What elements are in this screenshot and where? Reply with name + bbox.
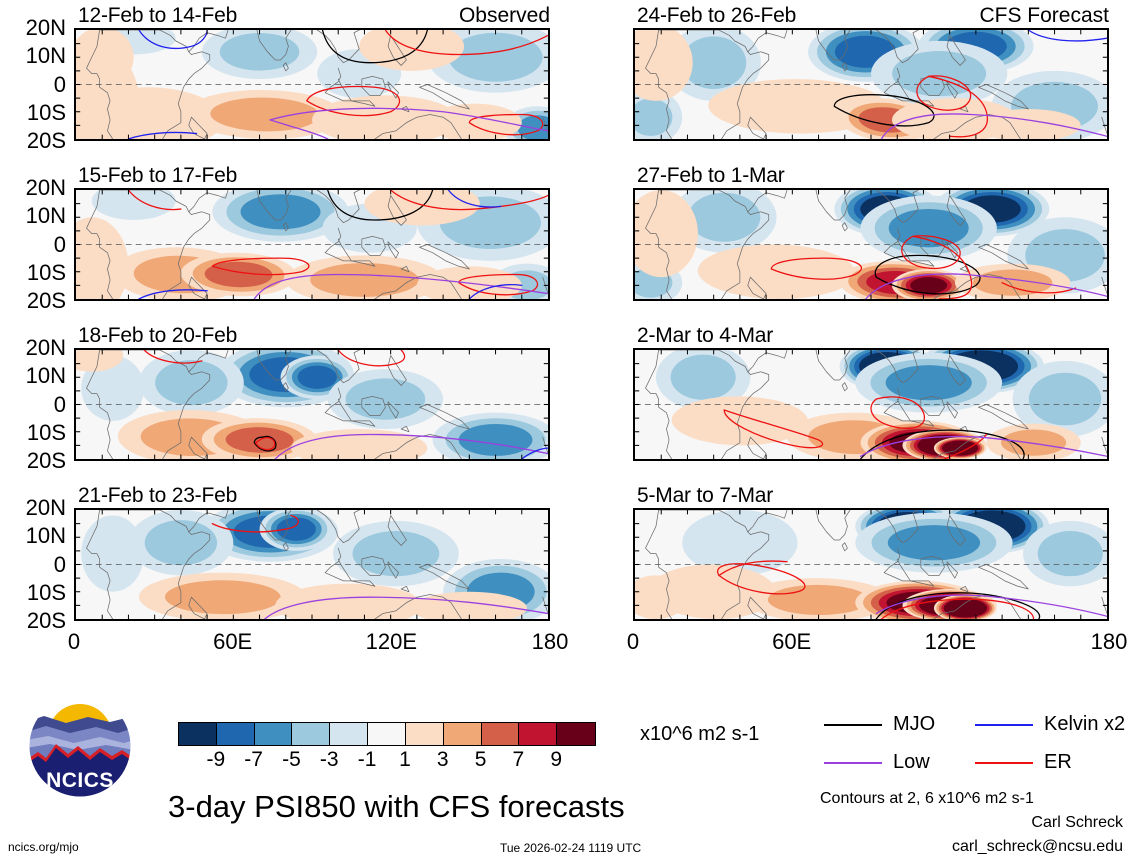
xtick-left-3: 180 — [510, 629, 590, 655]
map-l4[interactable] — [74, 508, 550, 621]
ytick-l1-3: 10S — [0, 100, 66, 126]
author-email: carl_schreck@ncsu.edu — [952, 838, 1123, 856]
ytick-l2-3: 10S — [0, 260, 66, 286]
colorbar-cell-7 — [444, 723, 482, 745]
map-l3[interactable] — [74, 348, 550, 461]
page-title: 3-day PSI850 with CFS forecasts — [168, 789, 625, 825]
xtick-right-0: 0 — [593, 629, 673, 655]
mjo-line-swatch — [824, 724, 882, 726]
ytick-l1-1: 10N — [0, 43, 66, 69]
xtick-right-3: 180 — [1069, 629, 1135, 655]
er-line-swatch — [975, 762, 1033, 764]
ytick-l4-3: 10S — [0, 580, 66, 606]
colorbar-cell-3 — [292, 723, 330, 745]
axis-ticks — [635, 30, 1107, 139]
legend-item-kelvin: Kelvin x2 — [975, 713, 1125, 736]
colorbar-cell-9 — [519, 723, 557, 745]
colorbar-tick-2: -5 — [282, 748, 301, 772]
contour-note: Contours at 2, 6 x10^6 m2 s-1 — [820, 790, 1034, 808]
ytick-l3-4: 20S — [0, 448, 66, 474]
colorbar-cell-8 — [482, 723, 520, 745]
colorbar-cell-10 — [557, 723, 595, 745]
axis-ticks — [635, 190, 1107, 299]
colorbar-cell-1 — [217, 723, 255, 745]
map-r1[interactable] — [633, 28, 1109, 141]
legend-item-low: Low — [824, 751, 930, 774]
map-r2[interactable] — [633, 188, 1109, 301]
colorbar-tick-7: 5 — [475, 748, 487, 772]
ytick-l4-2: 0 — [0, 552, 66, 578]
ytick-l3-2: 0 — [0, 392, 66, 418]
panel-corner-l1: Observed — [74, 4, 550, 28]
render-timestamp: Tue 2026-02-24 1119 UTC — [500, 841, 641, 855]
panel-title-l4: 21-Feb to 23-Feb — [78, 484, 237, 508]
xtick-right-2: 120E — [910, 629, 990, 655]
colorbar-tick-6: 3 — [437, 748, 449, 772]
map-r4[interactable] — [633, 508, 1109, 621]
colorbar-cell-0 — [179, 723, 217, 745]
legend-label-er: ER — [1044, 751, 1072, 774]
map-l1[interactable] — [74, 28, 550, 141]
colorbar-cell-5 — [368, 723, 406, 745]
xtick-left-2: 120E — [351, 629, 431, 655]
ncics-logo: NCICS — [26, 692, 134, 800]
panel-corner-r1: CFS Forecast — [633, 4, 1109, 28]
author-name: Carl Schreck — [1031, 814, 1123, 832]
ytick-l2-0: 20N — [0, 175, 66, 201]
ytick-l1-4: 20S — [0, 128, 66, 154]
colorbar-units-label: x10^6 m2 s-1 — [640, 723, 759, 746]
legend-label-low: Low — [893, 751, 930, 774]
ytick-l2-2: 0 — [0, 232, 66, 258]
ytick-l2-1: 10N — [0, 203, 66, 229]
kelvin-line-swatch — [975, 724, 1033, 726]
colorbar-cell-4 — [330, 723, 368, 745]
panel-title-r4: 5-Mar to 7-Mar — [637, 484, 773, 508]
ytick-l2-4: 20S — [0, 288, 66, 314]
axis-ticks — [76, 350, 548, 459]
axis-ticks — [635, 350, 1107, 459]
panel-title-l2: 15-Feb to 17-Feb — [78, 164, 237, 188]
ytick-l3-0: 20N — [0, 335, 66, 361]
ncics-logo-svg: NCICS — [26, 692, 134, 800]
low-line-swatch — [824, 762, 882, 764]
colorbar-tick-8: 7 — [513, 748, 525, 772]
legend-item-mjo: MJO — [824, 713, 935, 736]
colorbar-tick-9: 9 — [550, 748, 562, 772]
ytick-l1-2: 0 — [0, 72, 66, 98]
site-url[interactable]: ncics.org/mjo — [8, 840, 79, 854]
legend-label-kelvin: Kelvin x2 — [1044, 713, 1125, 736]
xtick-left-0: 0 — [34, 629, 114, 655]
ytick-l3-3: 10S — [0, 420, 66, 446]
xtick-right-1: 60E — [752, 629, 832, 655]
colorbar-cell-2 — [255, 723, 293, 745]
ytick-l4-1: 10N — [0, 523, 66, 549]
panel-title-r3: 2-Mar to 4-Mar — [637, 324, 773, 348]
ytick-l1-0: 20N — [0, 15, 66, 41]
panel-title-r2: 27-Feb to 1-Mar — [637, 164, 785, 188]
legend-label-mjo: MJO — [893, 713, 935, 736]
colorbar-tick-1: -7 — [244, 748, 263, 772]
xtick-left-1: 60E — [193, 629, 273, 655]
panel-title-l3: 18-Feb to 20-Feb — [78, 324, 237, 348]
colorbar-tick-0: -9 — [206, 748, 225, 772]
ytick-l3-1: 10N — [0, 363, 66, 389]
ytick-l4-0: 20N — [0, 495, 66, 521]
svg-text:NCICS: NCICS — [46, 769, 114, 792]
colorbar-tick-3: -3 — [320, 748, 339, 772]
colorbar-tick-4: -1 — [358, 748, 377, 772]
map-r3[interactable] — [633, 348, 1109, 461]
axis-ticks — [76, 30, 548, 139]
axis-ticks — [635, 510, 1107, 619]
colorbar-cell-6 — [406, 723, 444, 745]
axis-ticks — [76, 510, 548, 619]
map-l2[interactable] — [74, 188, 550, 301]
colorbar — [178, 722, 596, 746]
axis-ticks — [76, 190, 548, 299]
legend-item-er: ER — [975, 751, 1072, 774]
colorbar-tick-5: 1 — [399, 748, 411, 772]
